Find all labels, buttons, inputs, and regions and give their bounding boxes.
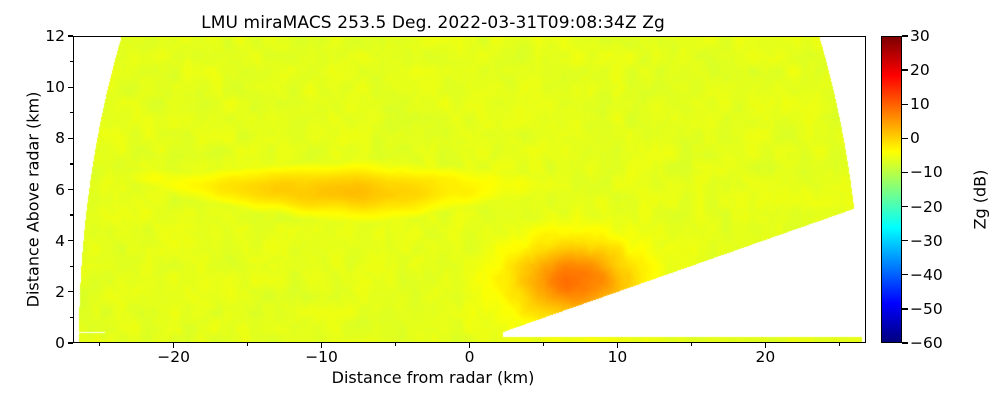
y-tick-label: 0 [55, 334, 65, 352]
colorbar-tick-label: −50 [910, 300, 943, 318]
y-tick-label: 6 [55, 181, 65, 199]
colorbar-title: Zg (dB) [971, 100, 990, 300]
colorbar-tick-label: −60 [910, 334, 943, 352]
plot-axes [73, 36, 866, 343]
y-axis-title: Distance Above radar (km) [24, 70, 43, 330]
x-tick-minor [99, 343, 100, 346]
x-tick-label: −10 [305, 348, 338, 366]
colorbar-tick-label: 0 [910, 129, 920, 147]
colorbar-tick-label: 30 [910, 27, 930, 45]
colorbar-tick [902, 240, 908, 241]
y-tick-minor [70, 112, 73, 113]
colorbar-tick-label: −30 [910, 232, 943, 250]
x-tick-minor [395, 343, 396, 346]
x-tick-label: 10 [608, 348, 628, 366]
colorbar-tick [902, 206, 908, 207]
y-tick [68, 189, 73, 190]
x-tick-minor [247, 343, 248, 346]
y-tick [68, 87, 73, 88]
y-tick-label: 2 [55, 283, 65, 301]
colorbar-tick [902, 308, 908, 309]
y-tick [68, 35, 73, 36]
x-axis-title: Distance from radar (km) [0, 368, 866, 387]
x-tick-label: −20 [157, 348, 190, 366]
colorbar-tick [902, 35, 908, 36]
y-tick-minor [70, 266, 73, 267]
x-tick-label: 0 [465, 348, 475, 366]
colorbar-tick [902, 172, 908, 173]
x-tick-minor [691, 343, 692, 346]
y-tick-minor [70, 214, 73, 215]
y-tick [68, 291, 73, 292]
y-tick-minor [70, 61, 73, 62]
y-tick [68, 240, 73, 241]
colorbar [881, 36, 902, 343]
y-tick-label: 12 [45, 27, 65, 45]
colorbar-tick-label: 10 [910, 95, 930, 113]
y-tick-label: 10 [45, 78, 65, 96]
colorbar-tick [902, 138, 908, 139]
colorbar-tick [902, 342, 908, 343]
radar-rhi-figure: LMU miraMACS 253.5 Deg. 2022-03-31T09:08… [0, 0, 1000, 400]
plot-title: LMU miraMACS 253.5 Deg. 2022-03-31T09:08… [0, 13, 866, 33]
colorbar-tick-label: 20 [910, 61, 930, 79]
y-tick-minor [70, 163, 73, 164]
radar-reflectivity-heatmap [74, 37, 866, 343]
y-tick-minor [70, 317, 73, 318]
colorbar-tick-label: −40 [910, 266, 943, 284]
y-tick [68, 342, 73, 343]
colorbar-tick-label: −20 [910, 198, 943, 216]
colorbar-gradient [881, 36, 902, 343]
colorbar-tick [902, 274, 908, 275]
x-tick-minor [839, 343, 840, 346]
x-tick-label: 20 [756, 348, 776, 366]
y-tick-label: 4 [55, 232, 65, 250]
colorbar-tick [902, 104, 908, 105]
x-tick-minor [543, 343, 544, 346]
y-tick [68, 138, 73, 139]
colorbar-tick [902, 69, 908, 70]
y-tick-label: 8 [55, 129, 65, 147]
colorbar-tick-label: −10 [910, 163, 943, 181]
